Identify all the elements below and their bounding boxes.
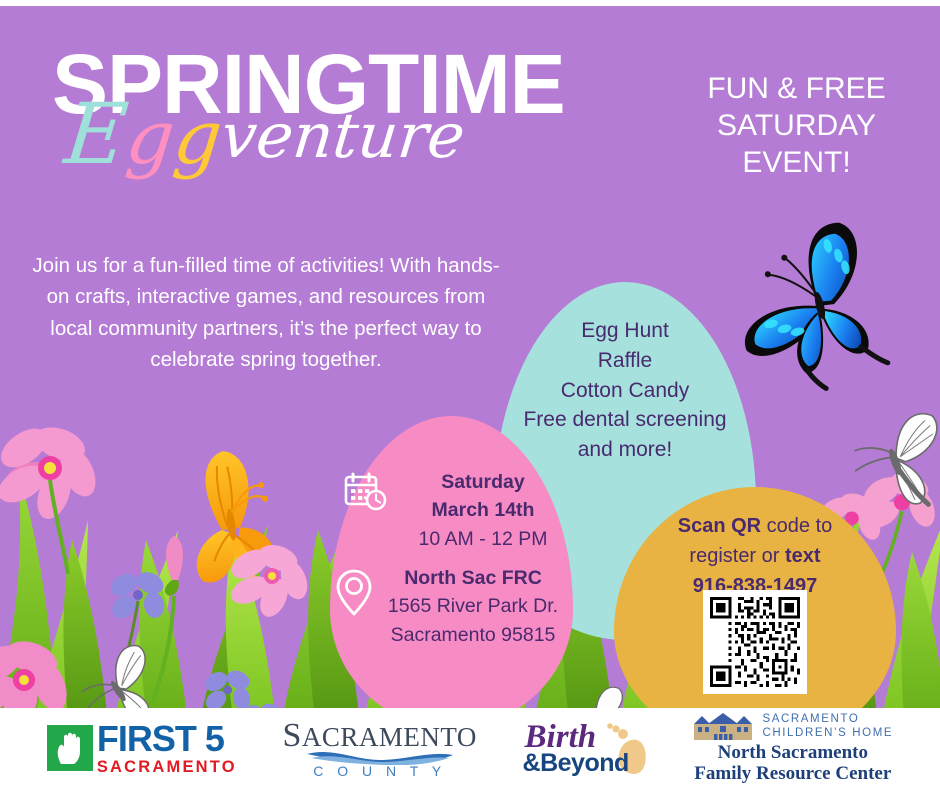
county-rest: ACRAMENTO (302, 722, 477, 752)
registration-text: Scan QR code to register or text 916-838… (614, 511, 896, 601)
location-text: North Sac FRC 1565 River Park Dr. Sacram… (380, 564, 566, 649)
venue-street: 1565 River Park Dr. (380, 592, 566, 620)
qr-line-2: register or text (614, 541, 896, 571)
sacramento-childrens-home-wordmark: SACRAMENTO CHILDREN’S HOME (762, 713, 893, 740)
activity-item: Cotton Candy (494, 376, 756, 406)
footer-curve (0, 0, 940, 6)
headline-block: SPRINGTIME Eggventure (52, 46, 692, 169)
beyond-label: &Beyond (523, 751, 629, 776)
north-sacramento-frc-logo: SACRAMENTO CHILDREN’S HOME North Sacrame… (692, 712, 893, 785)
activity-item: Raffle (494, 346, 756, 376)
qr-bold-text: text (785, 545, 821, 567)
date-text: Saturday March 14th 10 AM - 12 PM (390, 468, 576, 553)
qr-code[interactable] (703, 590, 807, 694)
county-sacramento-label: SACRAMENTO (282, 719, 476, 753)
event-date: March 14th (390, 496, 576, 524)
venue-city-zip: Sacramento 95815 (380, 621, 566, 649)
map-pin-icon (334, 568, 380, 623)
house-icon (692, 712, 754, 742)
springtime-eggventure-flyer: SPRINGTIME Eggventure FUN & FREE SATURDA… (0, 0, 940, 788)
qr-bold-scan: Scan QR (678, 515, 761, 537)
date-row: Saturday March 14th 10 AM - 12 PM (344, 468, 576, 553)
frc-line-2: Family Resource Center (694, 764, 891, 785)
sch-line-2: CHILDREN’S HOME (762, 727, 893, 741)
first5-wordmark: FIRST 5 SACRAMENTO (97, 721, 237, 776)
script-letter-e: E (63, 109, 130, 159)
county-cap-s: S (282, 717, 301, 754)
script-letter-g1: g (123, 101, 178, 175)
first5-label: FIRST 5 (97, 721, 237, 757)
frc-line-1: North Sacramento (694, 743, 891, 764)
sch-line-1: SACRAMENTO (762, 713, 893, 727)
activity-item: Egg Hunt (494, 316, 756, 346)
tagline-line-2: SATURDAY (689, 107, 904, 144)
intro-paragraph: Join us for a fun-filled time of activit… (26, 250, 506, 375)
sacramento-county-logo: SACRAMENTO C O U N T Y (282, 719, 476, 778)
venue-name: North Sac FRC (380, 564, 566, 592)
frc-wordmark: North Sacramento Family Resource Center (694, 743, 891, 785)
qr-line-2-rest: register or (689, 545, 785, 567)
birth-wordmark: Birth &Beyond (523, 721, 629, 776)
event-day: Saturday (390, 468, 576, 496)
logo-strip: FIRST 5 SACRAMENTO SACRAMENTO C O U N T … (0, 708, 940, 788)
event-tagline: FUN & FREE SATURDAY EVENT! (689, 70, 904, 182)
partner-logo-footer: FIRST 5 SACRAMENTO SACRAMENTO C O U N T … (0, 708, 940, 788)
script-subtitle: Eggventure (62, 95, 696, 169)
qr-line-1-rest: code to (761, 515, 832, 537)
county-label: C O U N T Y (313, 764, 446, 778)
event-time: 10 AM - 12 PM (390, 525, 576, 553)
frc-top-row: SACRAMENTO CHILDREN’S HOME (692, 712, 893, 742)
location-row: North Sac FRC 1565 River Park Dr. Sacram… (334, 564, 566, 649)
tagline-line-3: EVENT! (689, 144, 904, 181)
first5-sacramento-logo: FIRST 5 SACRAMENTO (47, 721, 237, 776)
calendar-clock-icon (344, 472, 390, 517)
birth-and-beyond-logo: Birth &Beyond (523, 721, 647, 776)
first5-sacramento-label: SACRAMENTO (97, 759, 237, 776)
details-egg: Saturday March 14th 10 AM - 12 PM North … (330, 416, 573, 728)
script-word-venture: venture (218, 105, 467, 167)
qr-line-1: Scan QR code to (614, 511, 896, 541)
script-letter-g2: g (170, 101, 225, 175)
hand-icon (47, 725, 93, 771)
tagline-line-1: FUN & FREE (689, 70, 904, 107)
